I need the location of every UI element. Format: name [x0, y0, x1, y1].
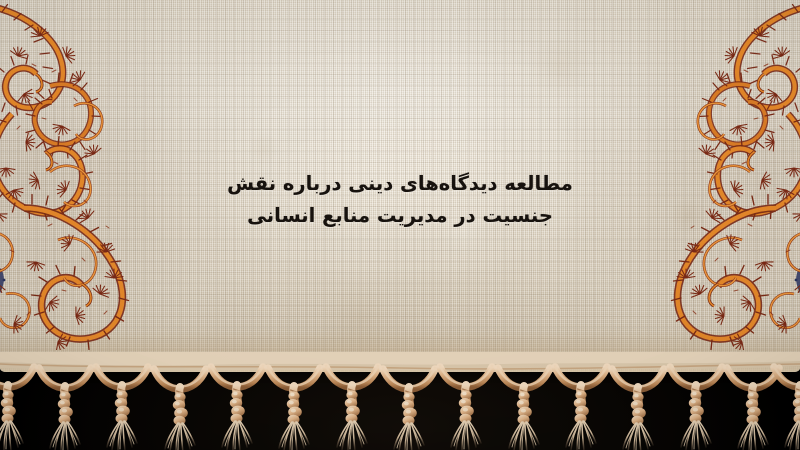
cloth-mottling	[0, 0, 800, 372]
tassel-fringe	[0, 352, 800, 450]
slide-canvas: مطالعه دیدگاه‌های دینی درباره نقش جنسیت …	[0, 0, 800, 450]
linen-cloth-panel: مطالعه دیدگاه‌های دینی درباره نقش جنسیت …	[0, 0, 800, 372]
